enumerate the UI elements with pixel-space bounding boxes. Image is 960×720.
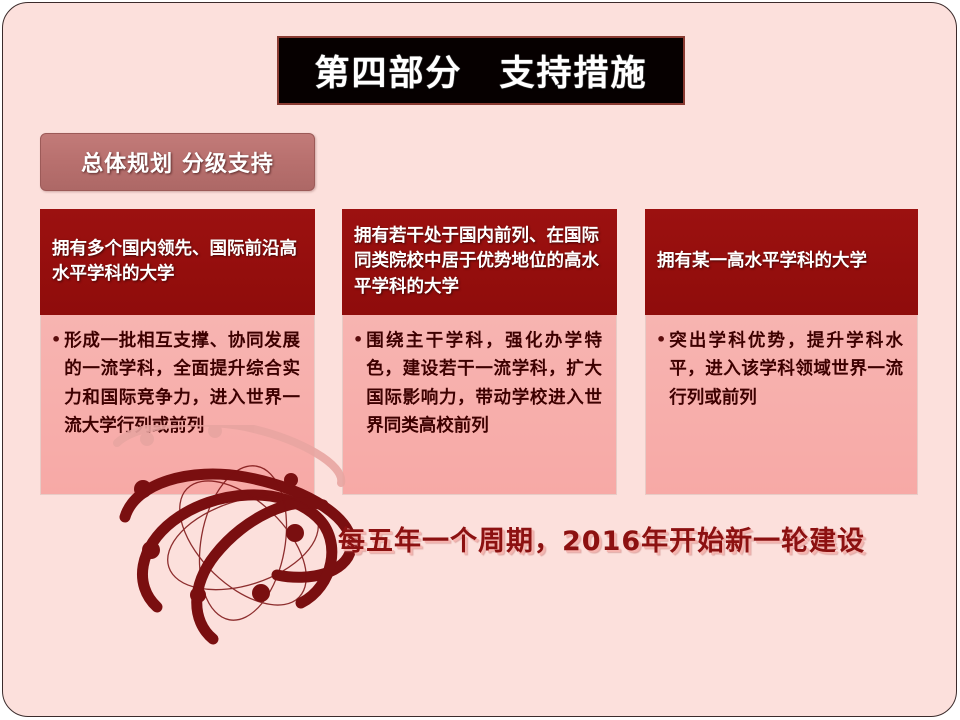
- tier-column-2: 拥有若干处于国内前列、在国际同类院校中居于优势地位的高水平学科的大学 • 围绕主…: [342, 209, 617, 495]
- tier-column-3: 拥有某一高水平学科的大学 • 突出学科优势，提升学科水平，进入该学科领域世界一流…: [645, 209, 918, 495]
- bullet-icon: •: [51, 327, 64, 353]
- tier-column-1-body-text: 形成一批相互支撑、协同发展的一流学科，全面提升综合实力和国际竞争力，进入世界一流…: [64, 327, 300, 440]
- tier-column-2-header: 拥有若干处于国内前列、在国际同类院校中居于优势地位的高水平学科的大学: [342, 209, 617, 315]
- bullet-icon: •: [656, 327, 669, 353]
- list-item: • 突出学科优势，提升学科水平，进入该学科领域世界一流行列或前列: [656, 327, 903, 412]
- bullet-icon: •: [353, 327, 366, 353]
- bottom-caption-text: 每五年一个周期，2016年开始新一轮建设: [338, 519, 865, 558]
- tier-column-1-header: 拥有多个国内领先、国际前沿高水平学科的大学: [40, 209, 315, 315]
- tier-column-3-body: • 突出学科优势，提升学科水平，进入该学科领域世界一流行列或前列: [645, 315, 918, 495]
- tier-columns: 拥有多个国内领先、国际前沿高水平学科的大学 • 形成一批相互支撑、协同发展的一流…: [0, 0, 960, 720]
- list-item: • 形成一批相互支撑、协同发展的一流学科，全面提升综合实力和国际竞争力，进入世界…: [51, 327, 300, 440]
- bottom-caption: 每五年一个周期，2016年开始新一轮建设: [338, 516, 878, 560]
- presentation-slide: 第四部分 支持措施 总体规划 分级支持 拥有多个国内领先、国际前沿高水平学科的大…: [0, 0, 960, 720]
- tier-column-3-header: 拥有某一高水平学科的大学: [645, 209, 918, 315]
- tier-column-2-body-text: 围绕主干学科，强化办学特色，建设若干一流学科，扩大国际影响力，带动学校进入世界同…: [366, 327, 602, 440]
- tier-column-3-body-text: 突出学科优势，提升学科水平，进入该学科领域世界一流行列或前列: [669, 327, 903, 412]
- tier-column-1: 拥有多个国内领先、国际前沿高水平学科的大学 • 形成一批相互支撑、协同发展的一流…: [40, 209, 315, 495]
- list-item: • 围绕主干学科，强化办学特色，建设若干一流学科，扩大国际影响力，带动学校进入世…: [353, 327, 602, 440]
- tier-column-1-body: • 形成一批相互支撑、协同发展的一流学科，全面提升综合实力和国际竞争力，进入世界…: [40, 315, 315, 495]
- tier-column-2-body: • 围绕主干学科，强化办学特色，建设若干一流学科，扩大国际影响力，带动学校进入世…: [342, 315, 617, 495]
